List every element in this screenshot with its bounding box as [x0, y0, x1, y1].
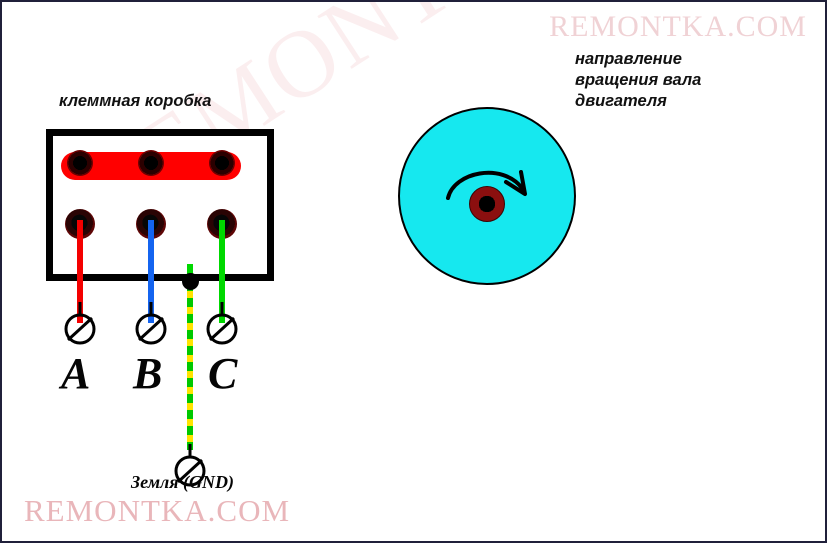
- phase-label-a: A: [61, 352, 90, 396]
- watermark-bottom-left: REMONTKA.COM: [24, 493, 290, 529]
- terminal-symbol-c: [201, 302, 243, 348]
- diagram-canvas: REMONTKA.COM REMONTKA.COM REMONTKA.COM к…: [0, 0, 827, 543]
- phase-label-c: C: [208, 352, 237, 396]
- jumper-hole-2: [138, 150, 164, 176]
- terminal-symbol-a: [59, 302, 101, 348]
- terminal-box-label: клеммная коробка: [59, 92, 211, 111]
- jumper-bar: [61, 152, 241, 180]
- phase-label-b: B: [133, 352, 162, 396]
- watermark-top-right: REMONTKA.COM: [549, 10, 807, 44]
- junction-dot-icon: [182, 273, 199, 290]
- jumper-hole-1: [67, 150, 93, 176]
- wire-ground-pe: [187, 282, 193, 450]
- rotation-direction-label: направление вращения вала двигателя: [575, 49, 701, 112]
- terminal-symbol-b: [130, 302, 172, 348]
- jumper-hole-3: [209, 150, 235, 176]
- ground-label: Земля (GND): [131, 472, 234, 493]
- rotation-arrow-icon: [442, 154, 542, 224]
